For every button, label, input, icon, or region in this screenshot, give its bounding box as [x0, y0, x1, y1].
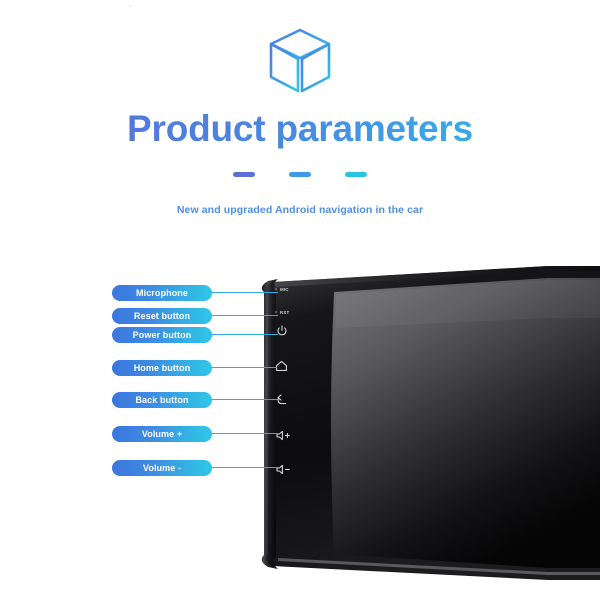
product-parameters-page: Product parameters New and upgraded Andr…: [0, 0, 600, 600]
callout-microphone[interactable]: Microphone: [112, 285, 212, 301]
reset-bezel-label: RST: [280, 310, 289, 315]
callout-label: Volume -: [143, 463, 181, 473]
callout-back-button[interactable]: Back button: [112, 392, 212, 408]
callout-label: Power button: [133, 330, 192, 340]
leader-line-volume-down: [206, 467, 280, 468]
back-arrow-icon[interactable]: [276, 393, 288, 411]
leader-line-volume-up: [206, 433, 278, 434]
callout-home-button[interactable]: Home button: [112, 360, 212, 376]
leader-line-home: [206, 367, 277, 368]
callout-power-button[interactable]: Power button: [112, 327, 212, 343]
dash-3: [345, 172, 367, 177]
page-subtitle: New and upgraded Android navigation in t…: [0, 204, 600, 216]
callout-label: Back button: [135, 395, 188, 405]
callout-label: Microphone: [136, 288, 188, 298]
leader-line-back: [206, 399, 280, 400]
callout-volume-up[interactable]: Volume +: [112, 426, 212, 442]
callout-label: Home button: [134, 363, 191, 373]
callout-label: Reset button: [134, 311, 190, 321]
volume-down-icon[interactable]: [276, 462, 291, 480]
image-artifact-speck: [129, 4, 132, 7]
power-icon[interactable]: [276, 324, 288, 342]
leader-line-power: [206, 334, 278, 335]
volume-up-icon[interactable]: [276, 428, 291, 446]
leader-line-reset: [206, 315, 278, 316]
callout-reset-button[interactable]: Reset button: [112, 308, 212, 324]
dash-2: [289, 172, 311, 177]
callout-volume-down[interactable]: Volume -: [112, 460, 212, 476]
device-illustration: MIC RST: [248, 258, 600, 588]
dash-1: [233, 172, 255, 177]
leader-line-microphone: [206, 292, 278, 293]
title-dashes: [0, 172, 600, 177]
microphone-bezel-label: MIC: [280, 287, 289, 292]
callout-label: Volume +: [142, 429, 182, 439]
cube-icon: [266, 26, 334, 96]
page-title: Product parameters: [0, 108, 600, 150]
